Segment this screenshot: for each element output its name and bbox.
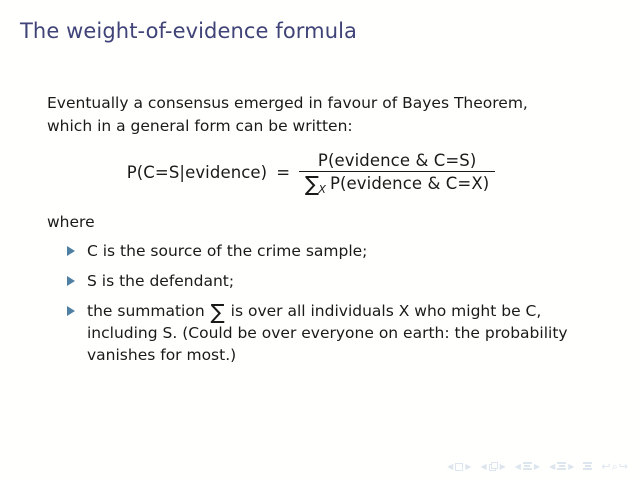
frame-icon[interactable] [489, 462, 498, 471]
nav-frame-group[interactable]: ◀ ▶ [480, 462, 505, 471]
intro-paragraph: Eventually a consensus emerged in favour… [0, 92, 640, 138]
bayes-equation: P(C=S|evidence) = P(evidence & C=S) ∑XP(… [0, 151, 640, 193]
equation-equals-sign: = [276, 163, 290, 182]
list-item-suffix: is over all individuals X who might be C… [226, 302, 542, 320]
subsection-icon[interactable] [523, 462, 532, 471]
summation-subscript: X [318, 183, 326, 196]
section-icon[interactable] [557, 462, 566, 471]
triangle-bullet-icon [67, 276, 75, 286]
triangle-bullet-icon [67, 306, 75, 316]
equation-fraction: P(evidence & C=S) ∑XP(evidence & C=X) [299, 151, 495, 193]
where-label: where [0, 211, 640, 233]
slide-icon[interactable] [455, 463, 463, 471]
search-icon[interactable]: ⌕ [612, 461, 618, 472]
prev-section-icon[interactable]: ◀ [549, 463, 555, 471]
slide-body: Eventually a consensus emerged in favour… [0, 92, 640, 366]
fraction-denominator: ∑XP(evidence & C=X) [299, 172, 495, 193]
document-icon[interactable] [583, 462, 592, 471]
next-section-icon[interactable]: ▶ [568, 463, 574, 471]
page-title: The weight-of-evidence formula [20, 17, 357, 45]
next-frame-icon[interactable]: ▶ [500, 463, 506, 471]
summation-icon: ∑ [210, 300, 226, 324]
intro-line-2: which in a general form can be written: [47, 115, 580, 138]
intro-line-1: Eventually a consensus emerged in favour… [47, 92, 580, 115]
list-item: S is the defendant; [0, 270, 640, 292]
triangle-bullet-icon [67, 246, 75, 256]
nav-history-group[interactable]: ↩ ⌕ ↪ [601, 461, 628, 472]
back-arrow-icon[interactable]: ↩ [601, 461, 610, 472]
nav-slide-group[interactable]: ◀ ▶ [447, 463, 471, 471]
list-item-text: S is the defendant; [87, 270, 592, 292]
list-item: the summation ∑ is over all individuals … [0, 300, 640, 366]
prev-subsection-icon[interactable]: ◀ [515, 463, 521, 471]
prev-frame-icon[interactable]: ◀ [480, 463, 486, 471]
beamer-navigation-bar[interactable]: ◀ ▶ ◀ ▶ ◀ ▶ ◀ ▶ ↩ ⌕ ↪ [447, 461, 628, 472]
nav-section-group[interactable]: ◀ ▶ [549, 462, 574, 471]
list-item-line-2: including S. (Could be over everyone on … [87, 322, 592, 344]
next-subsection-icon[interactable]: ▶ [534, 463, 540, 471]
definition-list: C is the source of the crime sample; S i… [0, 240, 640, 366]
list-item-prefix: the summation [87, 302, 210, 320]
nav-subsection-group[interactable]: ◀ ▶ [515, 462, 540, 471]
list-item-line-3: vanishes for most.) [87, 344, 592, 366]
list-item-line-1: the summation ∑ is over all individuals … [87, 300, 592, 322]
prev-slide-icon[interactable]: ◀ [447, 463, 453, 471]
list-item: C is the source of the crime sample; [0, 240, 640, 262]
next-slide-icon[interactable]: ▶ [465, 463, 471, 471]
denominator-expression: P(evidence & C=X) [330, 174, 489, 193]
forward-arrow-icon[interactable]: ↪ [619, 461, 628, 472]
equation-lhs: P(C=S|evidence) [127, 163, 268, 182]
fraction-numerator: P(evidence & C=S) [299, 151, 495, 171]
list-item-text: C is the source of the crime sample; [87, 240, 592, 262]
